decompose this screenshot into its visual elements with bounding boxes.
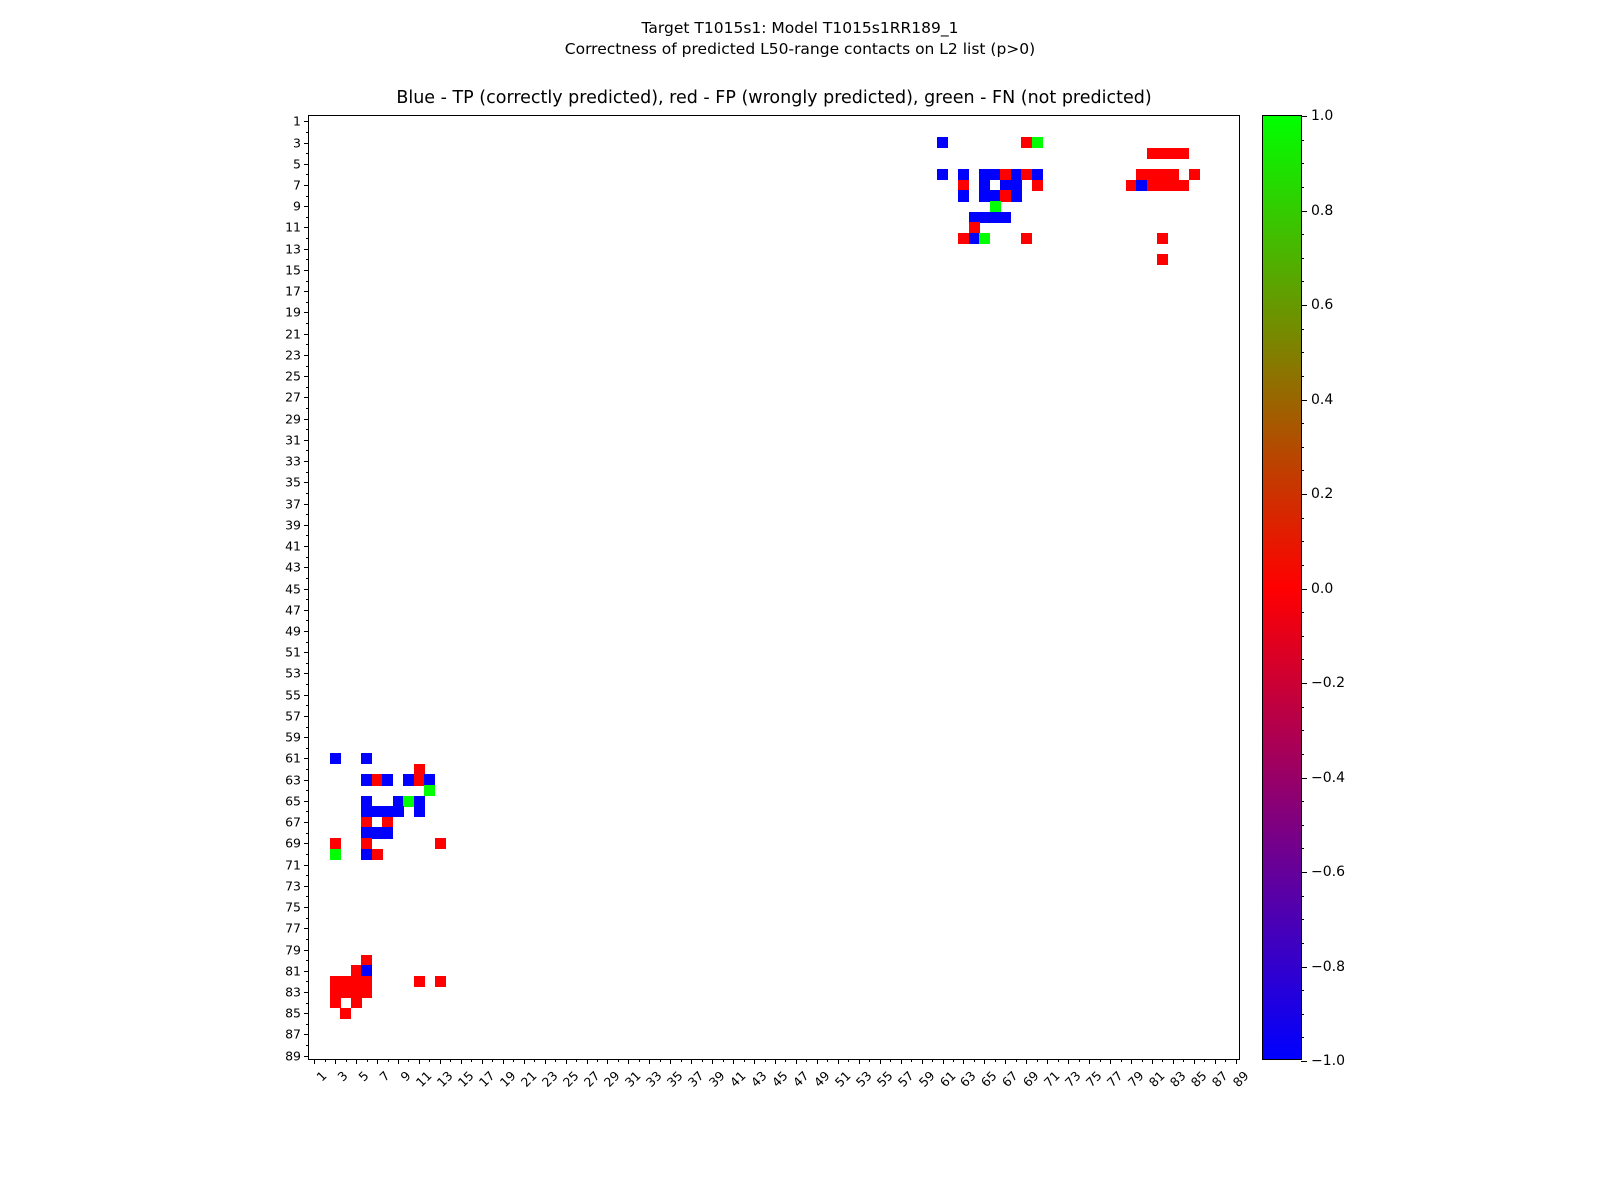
colorbar[interactable]: −1.0−0.8−0.6−0.4−0.20.00.20.40.60.81.0 [1262, 115, 1302, 1060]
contact-cell [330, 987, 341, 998]
x-axis-minor-tick [471, 1059, 472, 1062]
x-axis-major-tick [440, 1059, 441, 1064]
contact-cell [1168, 148, 1179, 159]
contact-cell [990, 169, 1001, 180]
contact-cell [1032, 169, 1043, 180]
y-axis-major-tick [304, 504, 309, 505]
y-axis-major-tick [304, 843, 309, 844]
y-axis-minor-tick [306, 599, 309, 600]
y-axis-major-tick [304, 312, 309, 313]
contact-map-plot[interactable]: 1357911131517192123252729313335373941434… [308, 115, 1240, 1060]
x-axis-major-tick [1068, 1059, 1069, 1064]
x-axis-major-tick [1215, 1059, 1216, 1064]
colorbar-minor-tick [1301, 258, 1304, 259]
colorbar-minor-tick [1301, 565, 1304, 566]
x-axis-minor-tick [702, 1059, 703, 1062]
x-axis-minor-tick [995, 1059, 996, 1062]
x-axis-major-tick [1236, 1059, 1237, 1064]
y-axis-major-tick [304, 886, 309, 887]
x-axis-tick-label: 39 [706, 1068, 728, 1090]
y-axis-tick-label: 49 [285, 623, 301, 638]
x-axis-tick-label: 25 [559, 1068, 581, 1090]
y-axis-major-tick [304, 270, 309, 271]
y-axis-major-tick [304, 652, 309, 653]
colorbar-minor-tick [1301, 683, 1304, 684]
y-axis-minor-tick [306, 875, 309, 876]
x-axis-major-tick [335, 1059, 336, 1064]
y-axis-tick-label: 17 [285, 284, 301, 299]
x-axis-tick-label: 29 [601, 1068, 623, 1090]
contact-cell [414, 976, 425, 987]
y-axis-tick-label: 51 [285, 645, 301, 660]
contact-cell [969, 212, 980, 223]
colorbar-minor-tick [1301, 234, 1304, 235]
x-axis-tick-label: 35 [664, 1068, 686, 1090]
x-axis-major-tick [943, 1059, 944, 1064]
contact-cell [351, 987, 362, 998]
x-axis-minor-tick [388, 1059, 389, 1062]
contact-cell [361, 965, 372, 976]
x-axis-major-tick [461, 1059, 462, 1064]
y-axis-minor-tick [306, 769, 309, 770]
y-axis-minor-tick [306, 196, 309, 197]
x-axis-minor-tick [639, 1059, 640, 1062]
colorbar-minor-tick [1301, 518, 1304, 519]
contact-cell [1011, 169, 1022, 180]
y-axis-minor-tick [306, 429, 309, 430]
colorbar-tick [1301, 589, 1307, 590]
contact-cell [403, 774, 414, 785]
x-axis-tick-label: 51 [832, 1068, 854, 1090]
colorbar-minor-tick [1301, 825, 1304, 826]
y-axis-tick-label: 1 [293, 114, 301, 129]
x-axis-tick-label: 67 [999, 1068, 1021, 1090]
x-axis-minor-tick [1183, 1059, 1184, 1062]
contact-cell [382, 827, 393, 838]
x-axis-tick-label: 83 [1167, 1068, 1189, 1090]
x-axis-minor-tick [1225, 1059, 1226, 1062]
x-axis-tick-label: 21 [517, 1068, 539, 1090]
x-axis-tick-label: 13 [434, 1068, 456, 1090]
y-axis-minor-tick [306, 1045, 309, 1046]
contact-cell [330, 976, 341, 987]
x-axis-minor-tick [1058, 1059, 1059, 1062]
contact-cell [361, 806, 372, 817]
colorbar-tick-label: 0.2 [1311, 486, 1333, 502]
colorbar-tick-label: −0.8 [1311, 959, 1345, 975]
contact-cell [361, 849, 372, 860]
colorbar-minor-tick [1301, 470, 1304, 471]
colorbar-tick [1301, 211, 1307, 212]
x-axis-minor-tick [1100, 1059, 1101, 1062]
y-axis-minor-tick [306, 174, 309, 175]
x-axis-minor-tick [597, 1059, 598, 1062]
x-axis-tick-label: 85 [1188, 1068, 1210, 1090]
y-axis-tick-label: 55 [285, 687, 301, 702]
y-axis-minor-tick [306, 408, 309, 409]
x-axis-major-tick [712, 1059, 713, 1064]
y-axis-major-tick [304, 950, 309, 951]
x-axis-tick-label: 57 [894, 1068, 916, 1090]
contact-cell [1126, 180, 1137, 191]
y-axis-major-tick [304, 121, 309, 122]
y-axis-tick-label: 89 [285, 1048, 301, 1063]
contact-cell [372, 827, 383, 838]
y-axis-minor-tick [306, 854, 309, 855]
y-axis-major-tick [304, 143, 309, 144]
x-axis-major-tick [691, 1059, 692, 1064]
y-axis-minor-tick [306, 811, 309, 812]
y-axis-tick-label: 79 [285, 942, 301, 957]
x-axis-minor-tick [869, 1059, 870, 1062]
y-axis-major-tick [304, 461, 309, 462]
y-axis-major-tick [304, 376, 309, 377]
x-axis-minor-tick [932, 1059, 933, 1062]
contact-cell [1147, 180, 1158, 191]
x-axis-minor-tick [744, 1059, 745, 1062]
x-axis-tick-label: 43 [748, 1068, 770, 1090]
contact-cell [1021, 233, 1032, 244]
x-axis-tick-label: 79 [1125, 1068, 1147, 1090]
x-axis-major-tick [545, 1059, 546, 1064]
colorbar-minor-tick [1301, 730, 1304, 731]
y-axis-minor-tick [306, 790, 309, 791]
y-axis-major-tick [304, 822, 309, 823]
y-axis-minor-tick [306, 918, 309, 919]
colorbar-tick [1301, 305, 1307, 306]
y-axis-minor-tick [306, 302, 309, 303]
contact-cell [361, 753, 372, 764]
y-axis-major-tick [304, 525, 309, 526]
y-axis-major-tick [304, 801, 309, 802]
colorbar-minor-tick [1301, 636, 1304, 637]
y-axis-minor-tick [306, 896, 309, 897]
y-axis-major-tick [304, 482, 309, 483]
contact-cell [340, 976, 351, 987]
contact-cell [361, 817, 372, 828]
x-axis-major-tick [817, 1059, 818, 1064]
y-axis-major-tick [304, 589, 309, 590]
contact-cell [1032, 180, 1043, 191]
contact-cell [990, 190, 1001, 201]
x-axis-tick-label: 65 [978, 1068, 1000, 1090]
x-axis-major-tick [649, 1059, 650, 1064]
x-axis-tick-label: 15 [455, 1068, 477, 1090]
y-axis-tick-label: 23 [285, 347, 301, 362]
colorbar-minor-tick [1301, 707, 1304, 708]
colorbar-minor-tick [1301, 1037, 1304, 1038]
x-axis-tick-label: 9 [397, 1068, 413, 1084]
contact-cell-layer [309, 116, 1239, 1059]
x-axis-minor-tick [723, 1059, 724, 1062]
colorbar-minor-tick [1301, 990, 1304, 991]
contact-cell [1136, 180, 1147, 191]
y-axis-minor-tick [306, 323, 309, 324]
x-axis-major-tick [922, 1059, 923, 1064]
x-axis-minor-tick [408, 1059, 409, 1062]
colorbar-tick [1301, 967, 1307, 968]
x-axis-major-tick [880, 1059, 881, 1064]
y-axis-major-tick [304, 716, 309, 717]
y-axis-major-tick [304, 291, 309, 292]
x-axis-major-tick [607, 1059, 608, 1064]
y-axis-tick-label: 87 [285, 1027, 301, 1042]
contact-cell [382, 806, 393, 817]
colorbar-minor-tick [1301, 896, 1304, 897]
contact-cell [330, 849, 341, 860]
contact-cell [1157, 233, 1168, 244]
y-axis-minor-tick [306, 259, 309, 260]
x-axis-tick-label: 55 [873, 1068, 895, 1090]
x-axis-minor-tick [890, 1059, 891, 1062]
y-axis-minor-tick [306, 557, 309, 558]
x-axis-tick-label: 7 [376, 1068, 392, 1084]
contact-cell [382, 817, 393, 828]
x-axis-tick-label: 37 [685, 1068, 707, 1090]
x-axis-minor-tick [450, 1059, 451, 1062]
x-axis-tick-label: 73 [1062, 1068, 1084, 1090]
x-axis-minor-tick [325, 1059, 326, 1062]
contact-cell [361, 976, 372, 987]
x-axis-minor-tick [346, 1059, 347, 1062]
x-axis-major-tick [1152, 1059, 1153, 1064]
y-axis-major-tick [304, 227, 309, 228]
x-axis-minor-tick [1037, 1059, 1038, 1062]
x-axis-major-tick [377, 1059, 378, 1064]
colorbar-minor-tick [1301, 187, 1304, 188]
y-axis-tick-label: 81 [285, 963, 301, 978]
x-axis-tick-label: 1 [314, 1068, 330, 1084]
x-axis-tick-label: 27 [580, 1068, 602, 1090]
x-axis-minor-tick [827, 1059, 828, 1062]
y-axis-minor-tick [306, 217, 309, 218]
y-axis-major-tick [304, 907, 309, 908]
y-axis-minor-tick [306, 705, 309, 706]
x-axis-tick-label: 69 [1020, 1068, 1042, 1090]
contact-cell [1021, 137, 1032, 148]
x-axis-major-tick [1047, 1059, 1048, 1064]
contact-cell [361, 774, 372, 785]
y-axis-minor-tick [306, 1003, 309, 1004]
y-axis-major-tick [304, 355, 309, 356]
y-axis-tick-label: 25 [285, 369, 301, 384]
colorbar-tick-label: −0.6 [1311, 864, 1345, 880]
x-axis-tick-label: 3 [335, 1068, 351, 1084]
y-axis-tick-label: 3 [293, 135, 301, 150]
contact-cell [351, 976, 362, 987]
x-axis-tick-label: 17 [476, 1068, 498, 1090]
x-axis-minor-tick [1016, 1059, 1017, 1062]
contact-cell [382, 774, 393, 785]
x-axis-tick-label: 19 [496, 1068, 518, 1090]
x-axis-minor-tick [660, 1059, 661, 1062]
contact-cell [435, 976, 446, 987]
y-axis-tick-label: 15 [285, 262, 301, 277]
y-axis-major-tick [304, 610, 309, 611]
x-axis-tick-label: 87 [1209, 1068, 1231, 1090]
x-axis-tick-label: 5 [355, 1068, 371, 1084]
y-axis-major-tick [304, 928, 309, 929]
y-axis-tick-label: 33 [285, 454, 301, 469]
y-axis-tick-label: 47 [285, 602, 301, 617]
contact-cell [414, 774, 425, 785]
y-axis-minor-tick [306, 663, 309, 664]
colorbar-minor-tick [1301, 447, 1304, 448]
y-axis-major-tick [304, 397, 309, 398]
colorbar-tick [1301, 116, 1307, 117]
colorbar-minor-tick [1301, 754, 1304, 755]
x-axis-major-tick [859, 1059, 860, 1064]
contact-cell [979, 190, 990, 201]
y-axis-tick-label: 19 [285, 305, 301, 320]
contact-cell [1011, 180, 1022, 191]
contact-cell [372, 806, 383, 817]
x-axis-major-tick [796, 1059, 797, 1064]
contact-cell [937, 169, 948, 180]
x-axis-minor-tick [953, 1059, 954, 1062]
y-axis-minor-tick [306, 642, 309, 643]
contact-cell [1157, 169, 1168, 180]
y-axis-tick-label: 59 [285, 730, 301, 745]
y-axis-minor-tick [306, 493, 309, 494]
y-axis-minor-tick [306, 535, 309, 536]
y-axis-minor-tick [306, 472, 309, 473]
x-axis-tick-label: 11 [413, 1068, 435, 1090]
x-axis-major-tick [670, 1059, 671, 1064]
x-axis-major-tick [984, 1059, 985, 1064]
x-axis-minor-tick [367, 1059, 368, 1062]
contact-cell [361, 838, 372, 849]
contact-cell [979, 212, 990, 223]
x-axis-tick-label: 75 [1083, 1068, 1105, 1090]
contact-cell [990, 201, 1001, 212]
x-axis-tick-label: 59 [915, 1068, 937, 1090]
colorbar-minor-tick [1301, 329, 1304, 330]
y-axis-tick-label: 41 [285, 539, 301, 554]
x-axis-major-tick [1194, 1059, 1195, 1064]
colorbar-minor-tick [1301, 163, 1304, 164]
x-axis-major-tick [587, 1059, 588, 1064]
x-axis-minor-tick [513, 1059, 514, 1062]
y-axis-major-tick [304, 334, 309, 335]
colorbar-minor-tick [1301, 659, 1304, 660]
x-axis-major-tick [901, 1059, 902, 1064]
colorbar-tick-label: 0.0 [1311, 581, 1333, 597]
x-axis-tick-label: 33 [643, 1068, 665, 1090]
contact-cell [330, 997, 341, 1008]
y-axis-major-tick [304, 567, 309, 568]
x-axis-minor-tick [492, 1059, 493, 1062]
y-axis-major-tick [304, 546, 309, 547]
y-axis-major-tick [304, 440, 309, 441]
contact-cell [424, 785, 435, 796]
x-axis-minor-tick [765, 1059, 766, 1062]
contact-cell [1157, 148, 1168, 159]
colorbar-tick-label: −1.0 [1311, 1053, 1345, 1069]
y-axis-tick-label: 45 [285, 581, 301, 596]
contact-cell [361, 827, 372, 838]
y-axis-minor-tick [306, 1024, 309, 1025]
contact-cell [1147, 169, 1158, 180]
contact-cell [979, 180, 990, 191]
figure-title: Target T1015s1: Model T1015s1RR189_1 Cor… [0, 18, 1600, 60]
x-axis-major-tick [1110, 1059, 1111, 1064]
x-axis-tick-label: 81 [1146, 1068, 1168, 1090]
colorbar-minor-tick [1301, 612, 1304, 613]
contact-cell [351, 997, 362, 1008]
contact-cell [969, 222, 980, 233]
y-axis-major-tick [304, 631, 309, 632]
contact-cell [1189, 169, 1200, 180]
y-axis-major-tick [304, 206, 309, 207]
y-axis-minor-tick [306, 620, 309, 621]
contact-cell [1147, 148, 1158, 159]
contact-cell [958, 169, 969, 180]
contact-cell [1178, 148, 1189, 159]
y-axis-major-tick [304, 971, 309, 972]
x-axis-tick-label: 41 [727, 1068, 749, 1090]
contact-cell [361, 987, 372, 998]
y-axis-major-tick [304, 1056, 309, 1057]
contact-cell [414, 806, 425, 817]
x-axis-minor-tick [576, 1059, 577, 1062]
y-axis-minor-tick [306, 450, 309, 451]
y-axis-tick-label: 85 [285, 1006, 301, 1021]
contact-cell [414, 764, 425, 775]
y-axis-tick-label: 27 [285, 390, 301, 405]
x-axis-tick-label: 77 [1104, 1068, 1126, 1090]
x-axis-major-tick [503, 1059, 504, 1064]
contact-cell [1168, 169, 1179, 180]
contact-cell [958, 190, 969, 201]
x-axis-major-tick [838, 1059, 839, 1064]
contact-cell [1021, 169, 1032, 180]
contact-cell [372, 774, 383, 785]
colorbar-minor-tick [1301, 541, 1304, 542]
y-axis-tick-label: 21 [285, 326, 301, 341]
x-axis-tick-label: 49 [811, 1068, 833, 1090]
contact-cell [1032, 137, 1043, 148]
colorbar-tick-label: −0.2 [1311, 675, 1345, 691]
colorbar-minor-tick [1301, 801, 1304, 802]
y-axis-minor-tick [306, 514, 309, 515]
contact-cell [979, 169, 990, 180]
x-axis-minor-tick [1142, 1059, 1143, 1062]
x-axis-major-tick [482, 1059, 483, 1064]
contact-cell [979, 233, 990, 244]
contact-cell [414, 796, 425, 807]
y-axis-minor-tick [306, 833, 309, 834]
contact-cell [351, 965, 362, 976]
y-axis-tick-label: 29 [285, 411, 301, 426]
y-axis-minor-tick [306, 748, 309, 749]
y-axis-tick-label: 9 [293, 199, 301, 214]
x-axis-minor-tick [1079, 1059, 1080, 1062]
y-axis-minor-tick [306, 387, 309, 388]
colorbar-minor-tick [1301, 376, 1304, 377]
x-axis-major-tick [566, 1059, 567, 1064]
y-axis-tick-label: 31 [285, 432, 301, 447]
x-axis-major-tick [524, 1059, 525, 1064]
y-axis-minor-tick [306, 578, 309, 579]
x-axis-minor-tick [974, 1059, 975, 1062]
contact-cell [990, 212, 1001, 223]
y-axis-major-tick [304, 1013, 309, 1014]
colorbar-minor-tick [1301, 140, 1304, 141]
contact-cell [1000, 169, 1011, 180]
x-axis-major-tick [963, 1059, 964, 1064]
y-axis-minor-tick [306, 981, 309, 982]
